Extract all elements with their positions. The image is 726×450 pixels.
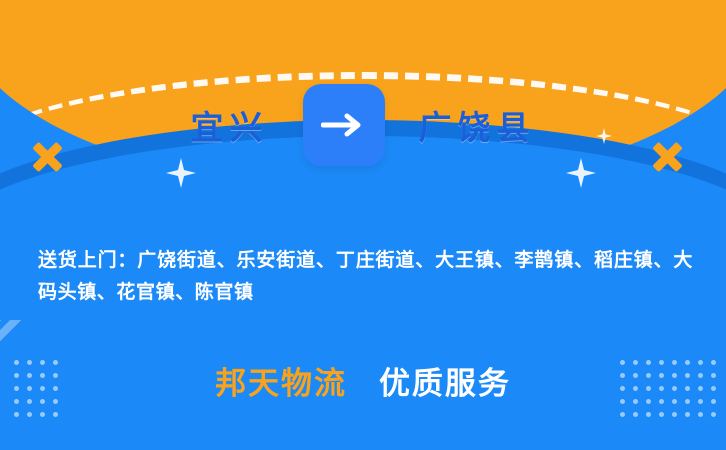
right-arrow-icon xyxy=(303,84,385,166)
delivery-area-text: 送货上门：广饶街道、乐安街道、丁庄街道、大王镇、李鹊镇、稻庄镇、大码头镇、花官镇… xyxy=(38,245,693,309)
route-header: 宜兴 广饶县 xyxy=(0,84,726,166)
destination-city: 广饶县 xyxy=(419,101,536,149)
slogan-brand: 邦天物流 xyxy=(215,366,347,401)
slogan-service: 优质服务 xyxy=(379,366,511,401)
slogan: 邦天物流 优质服务 xyxy=(0,358,726,403)
origin-city: 宜兴 xyxy=(191,101,269,149)
logistics-route-poster: 宜兴 广饶县 送货上门：广饶街道、乐安街道、丁庄街道、大王镇、李鹊镇、稻庄镇、大… xyxy=(0,0,726,450)
